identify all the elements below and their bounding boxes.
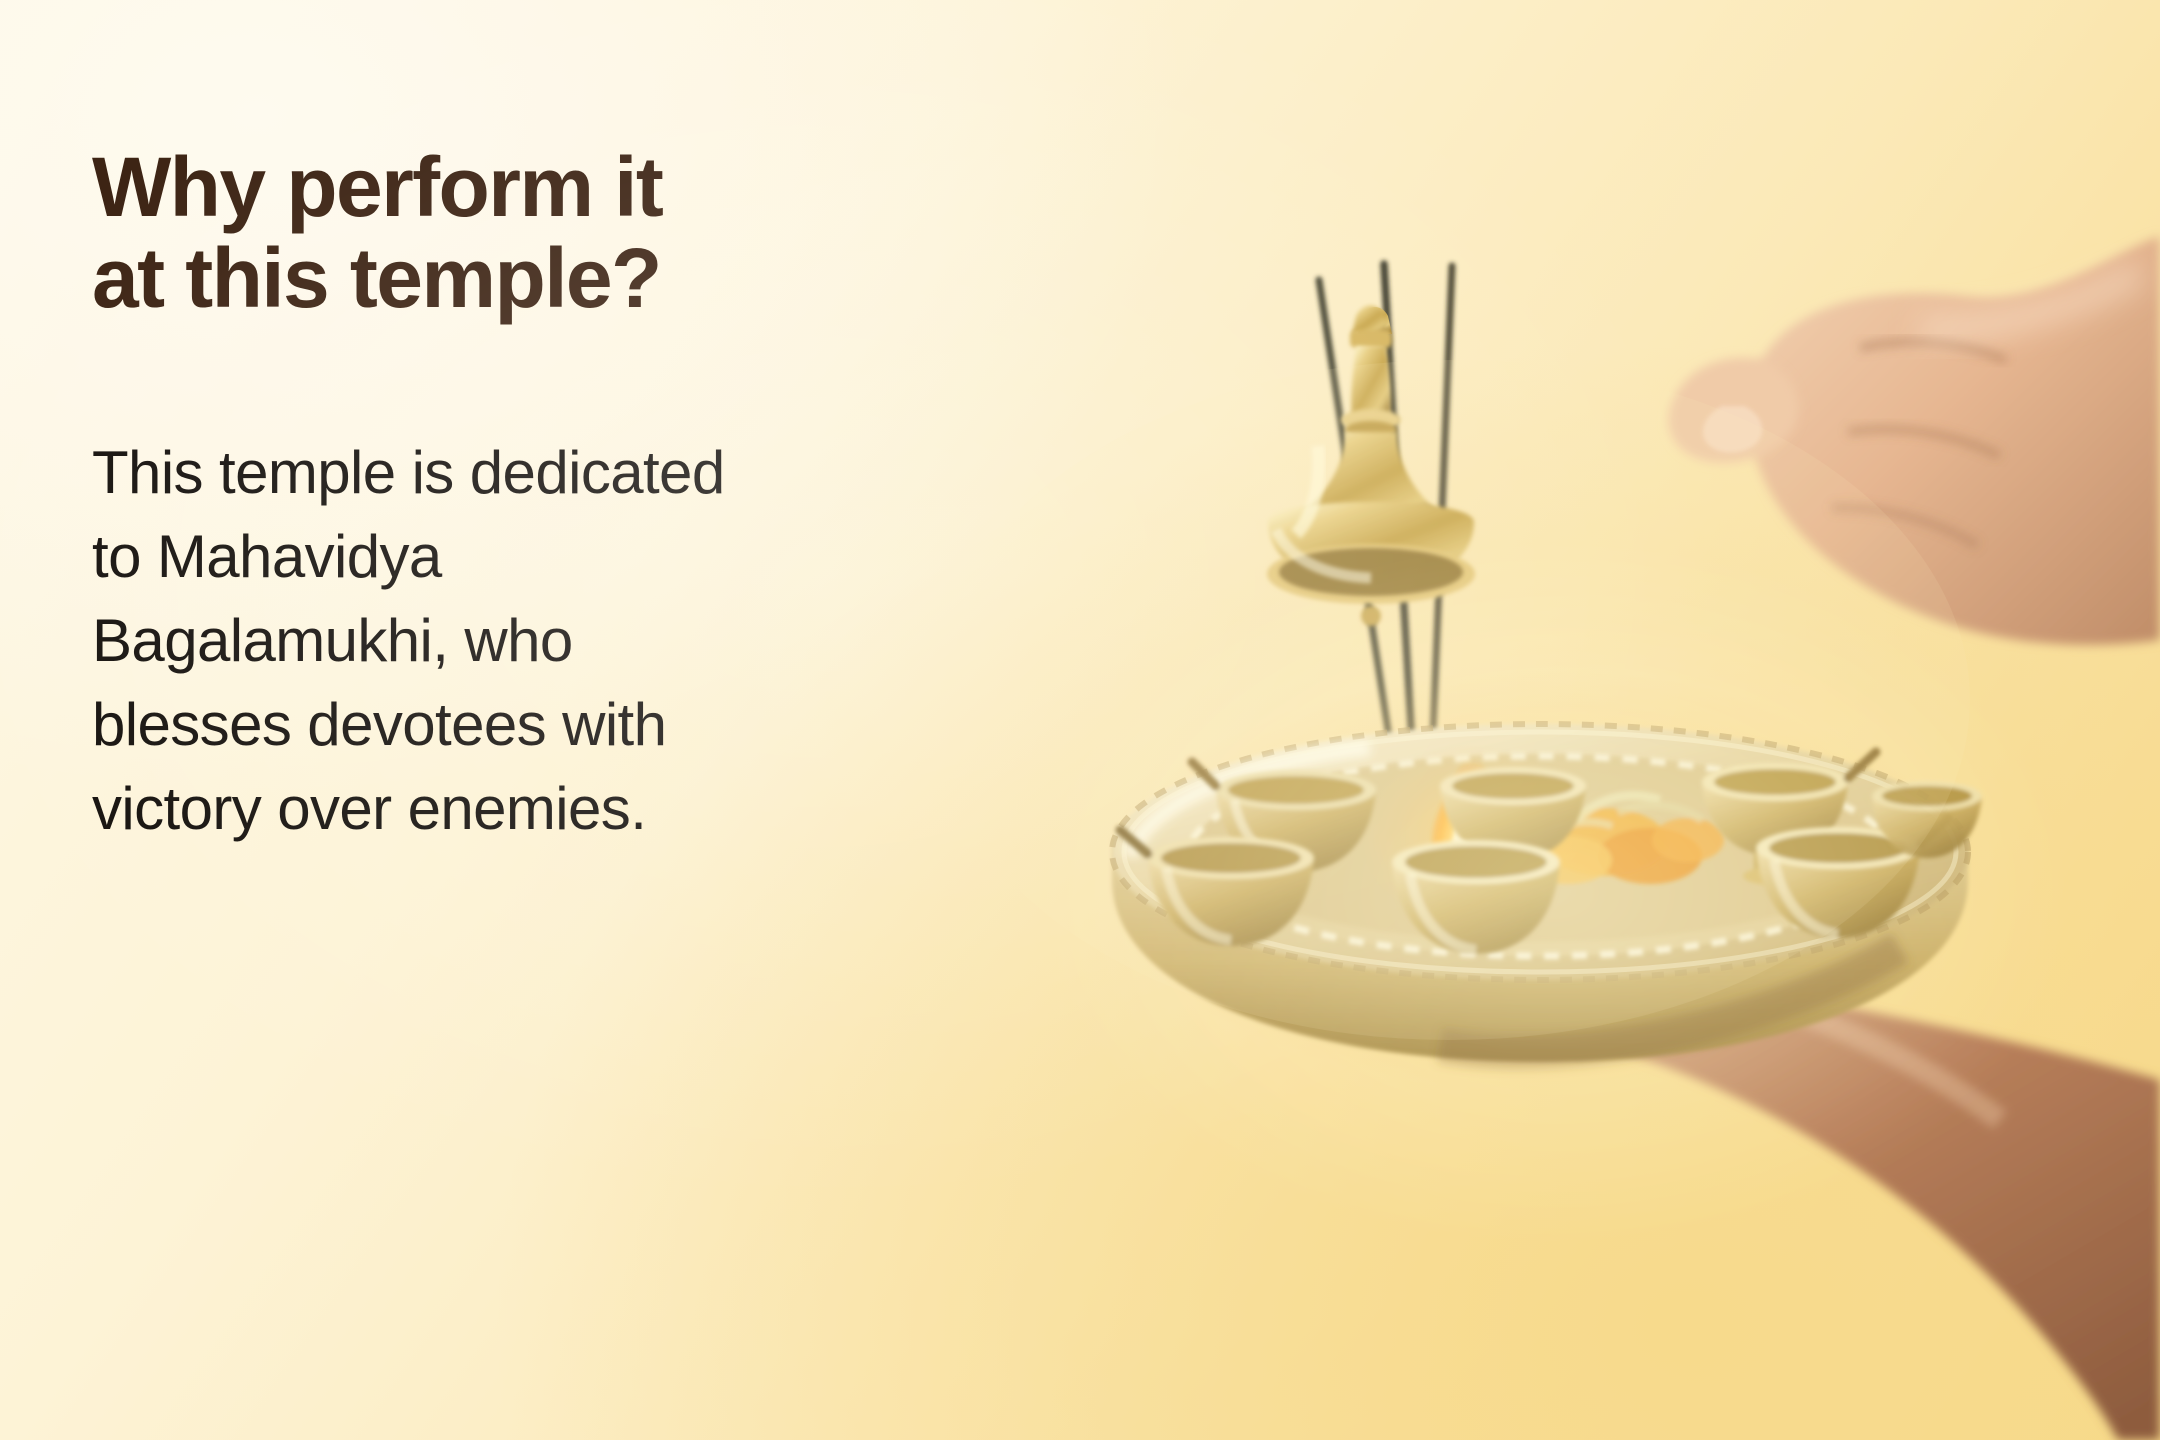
puja-photo: g[data-name="brass-bell"] { transform: t… <box>1020 0 2160 1440</box>
slide-canvas: Why perform it at this temple? This temp… <box>0 0 2160 1440</box>
puja-illustration: g[data-name="brass-bell"] { transform: t… <box>1020 0 2160 1440</box>
body-paragraph: This temple is dedicated to Mahavidya Ba… <box>92 431 992 851</box>
text-column: Why perform it at this temple? This temp… <box>92 142 1052 851</box>
page-title: Why perform it at this temple? <box>92 142 1052 323</box>
